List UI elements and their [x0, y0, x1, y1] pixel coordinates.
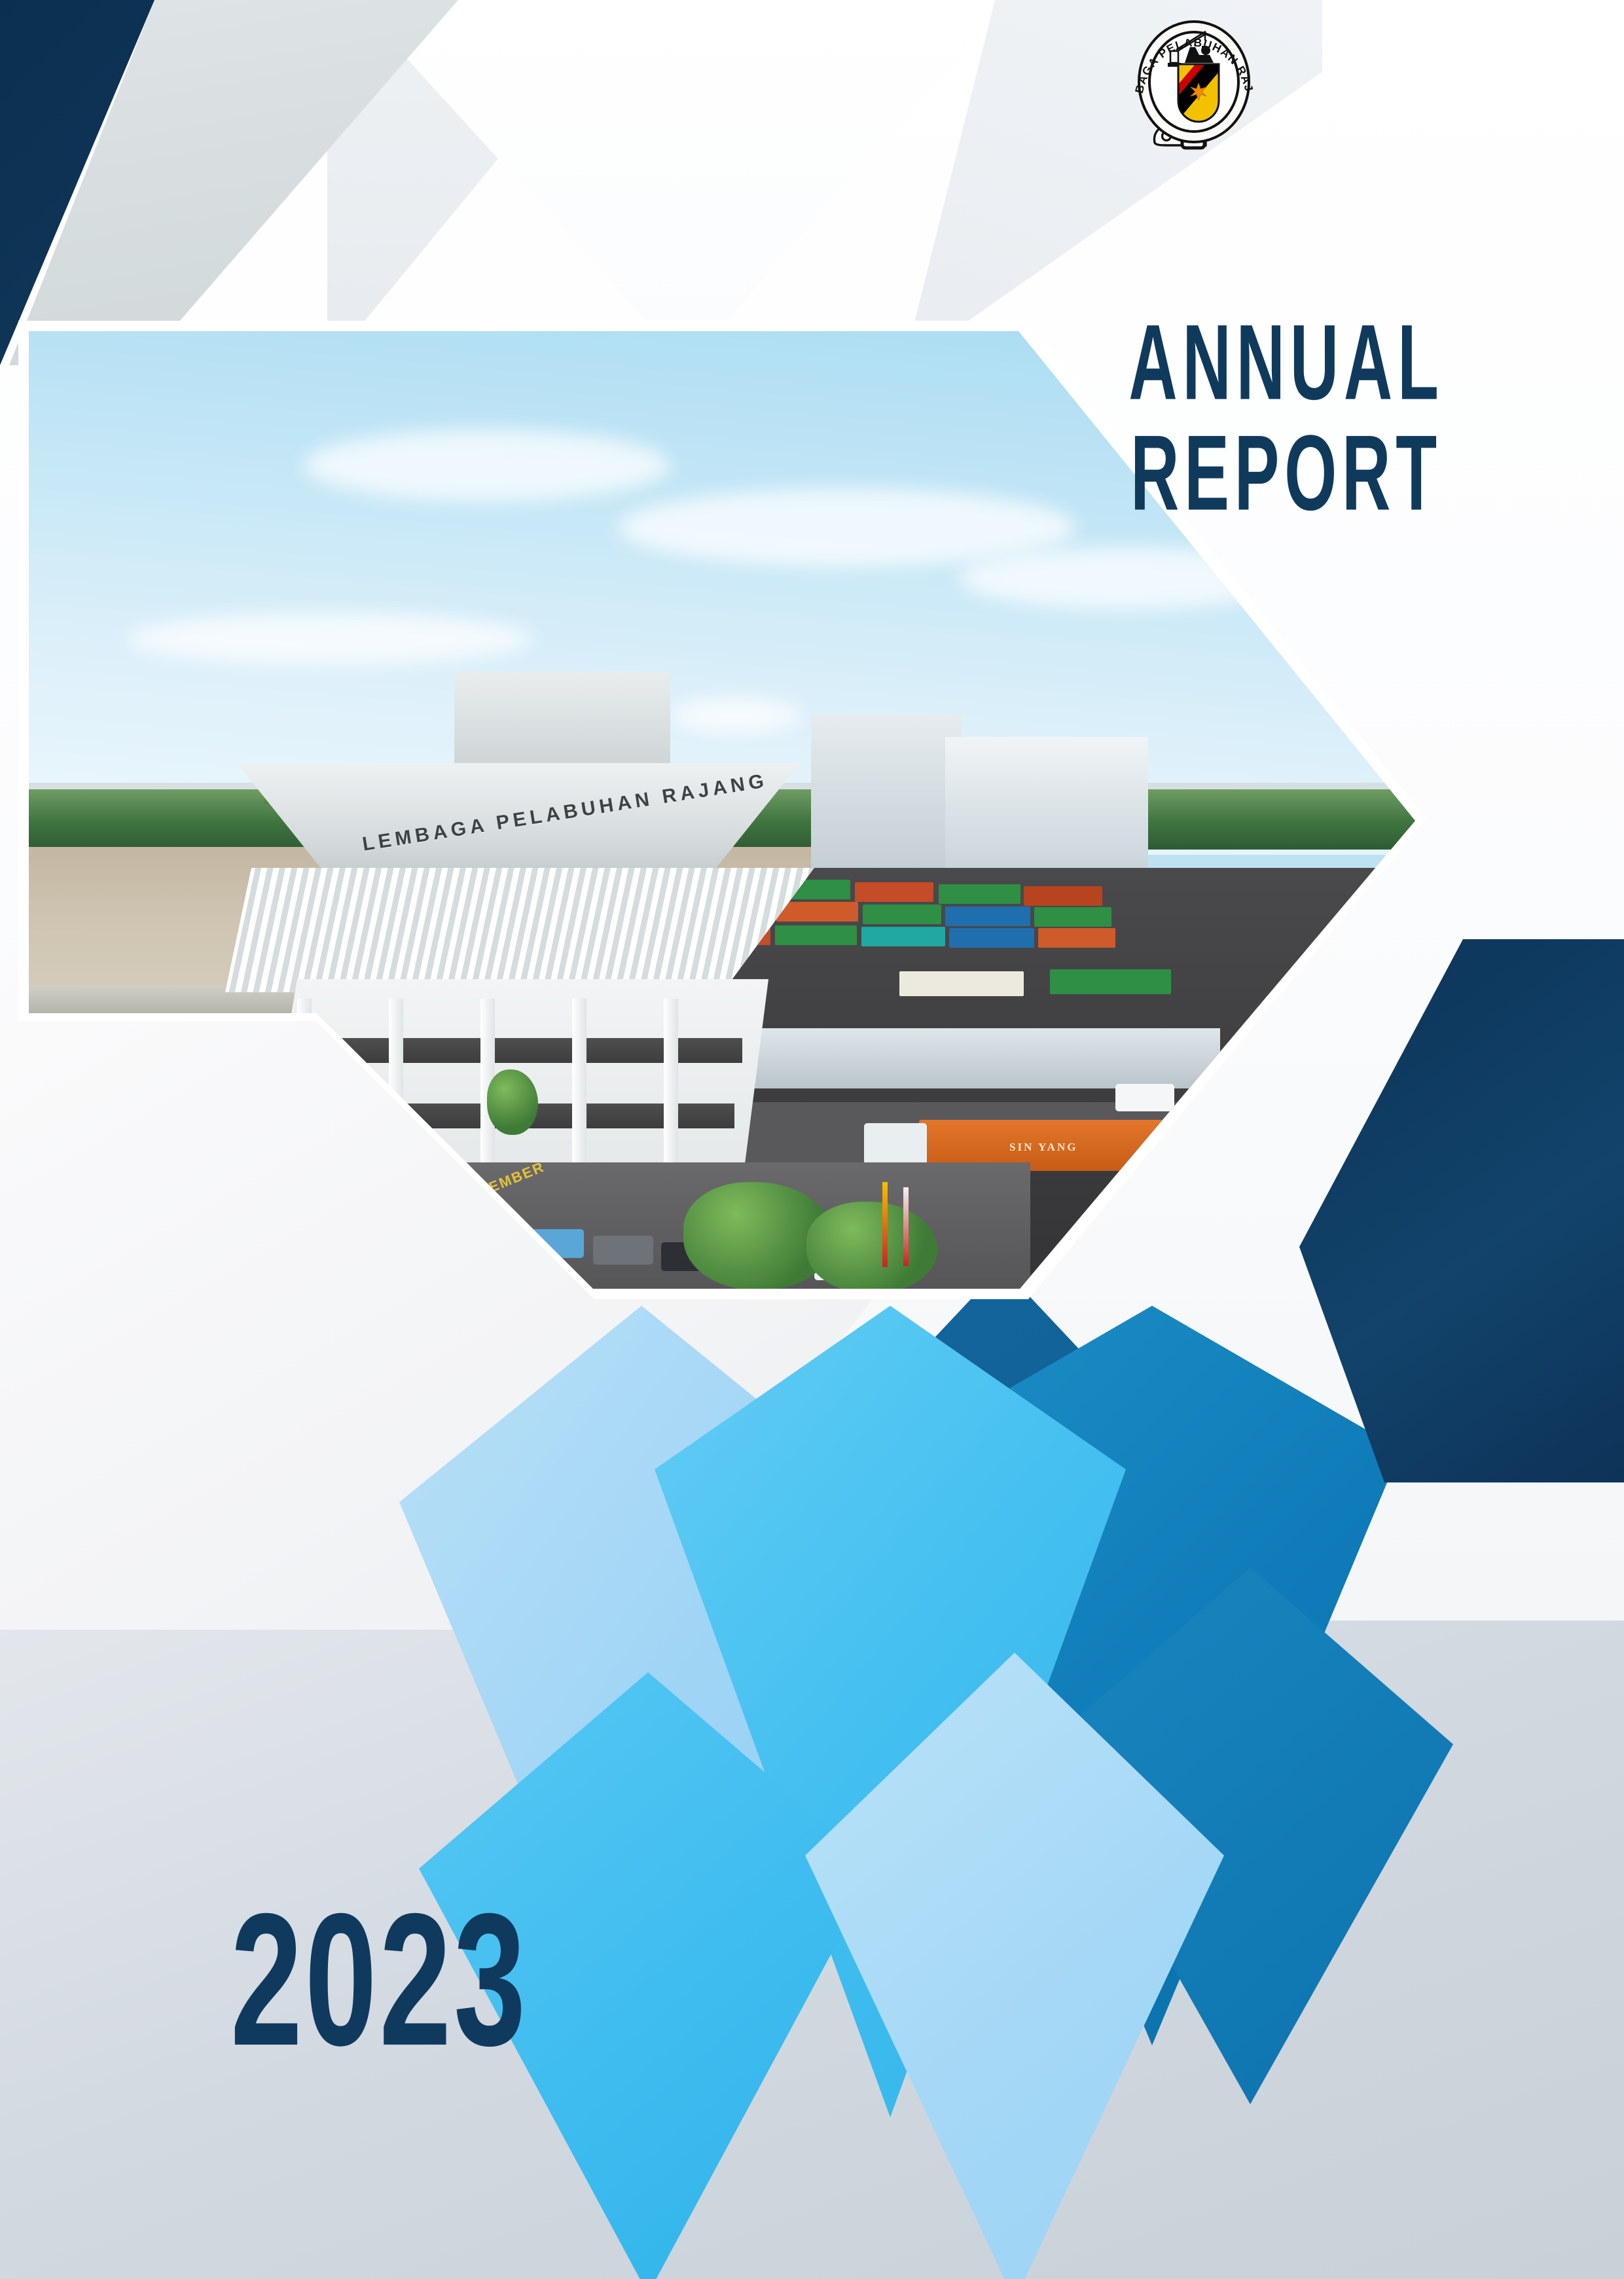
- photo-container: [945, 906, 1030, 926]
- organization-logo: LEMBAGA PELABUHAN RAJANG: [1127, 14, 1261, 165]
- photo-hq-tower: [454, 672, 670, 770]
- title-line-report: REPORT: [1044, 405, 1529, 543]
- photo-container: [939, 884, 1020, 904]
- annual-report-cover: SIN YANG LEMBAGA PELABUHAN RAJANG: [0, 0, 1624, 2279]
- photo-container: [1050, 969, 1171, 994]
- photo-container: [1024, 886, 1102, 906]
- photo-truck-cab: [864, 1123, 927, 1165]
- photo-tree: [487, 1069, 538, 1135]
- photo-container: [1038, 928, 1115, 948]
- photo-hq-louvre-canopy: [225, 868, 814, 992]
- photo-container: [861, 927, 945, 946]
- report-year: 2023: [230, 1885, 528, 2073]
- photo-cloud: [127, 613, 533, 665]
- photo-container-label: SIN YANG: [1009, 1141, 1077, 1153]
- photo-cloud: [304, 429, 670, 501]
- photo-container: [899, 971, 1024, 996]
- photo-car: [593, 1236, 653, 1265]
- photo-flag: [903, 1187, 909, 1266]
- page-title: ANNUAL REPORT: [975, 308, 1597, 529]
- photo-flag: [882, 1182, 888, 1267]
- photo-container: [855, 882, 933, 902]
- photo-background-building: [811, 714, 962, 871]
- photo-container: [949, 928, 1034, 948]
- photo-container: [863, 905, 941, 924]
- photo-container: [1034, 907, 1111, 927]
- photo-background-building: [945, 737, 1148, 871]
- photo-car: [1115, 1084, 1174, 1111]
